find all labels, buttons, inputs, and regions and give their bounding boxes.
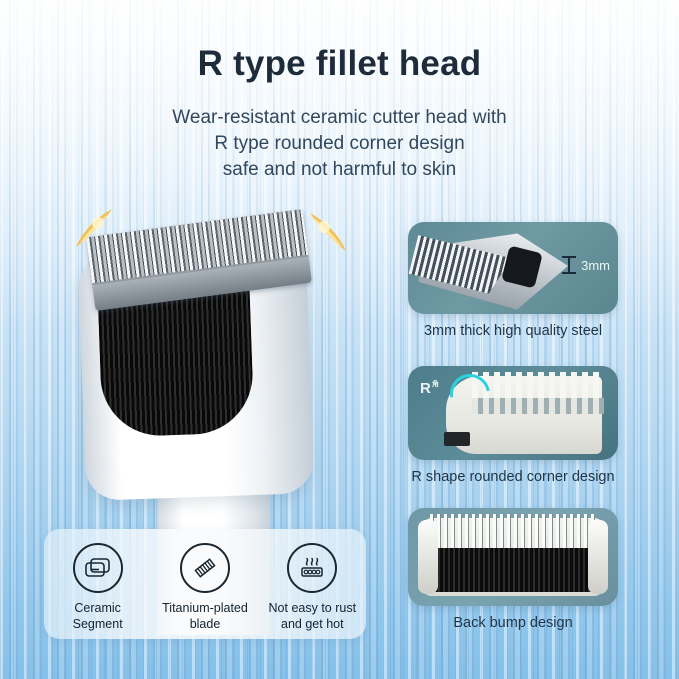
panel-caption: Back bump design bbox=[408, 615, 618, 631]
blade-closeup-photo: 3mm bbox=[408, 222, 618, 314]
badge-titanium-plated-blade: Titanium-plated blade bbox=[155, 543, 255, 632]
spark-icon bbox=[68, 203, 128, 255]
subtitle-block: Wear-resistant ceramic cutter head with … bbox=[0, 105, 679, 183]
blade-rail-right bbox=[588, 520, 608, 594]
subtitle-line-2: R type rounded corner design bbox=[0, 131, 679, 157]
badge-label: Titanium-plated blade bbox=[155, 600, 255, 632]
ceramic-layers-icon bbox=[73, 543, 123, 593]
comb-teeth-photo: R 角 bbox=[408, 366, 618, 460]
subtitle-line-1: Wear-resistant ceramic cutter head with bbox=[0, 105, 679, 131]
badge-label: Not easy to rust and get hot bbox=[262, 600, 362, 632]
spark-icon bbox=[294, 207, 354, 259]
badge-not-easy-to-rust: Not easy to rust and get hot bbox=[262, 543, 362, 632]
badge-label-line-2: and get hot bbox=[262, 616, 362, 632]
caliper-icon bbox=[562, 256, 576, 274]
blade-rail-left bbox=[418, 520, 438, 594]
feature-badges-card: Ceramic Segment Titanium-pl bbox=[44, 529, 366, 639]
blade-teeth bbox=[430, 514, 596, 552]
feature-panel-steel-thickness: 3mm 3mm thick high quality steel bbox=[408, 222, 618, 339]
blade-notch bbox=[444, 432, 470, 446]
panel-caption: 3mm thick high quality steel bbox=[408, 323, 618, 339]
badge-label: Ceramic Segment bbox=[48, 600, 148, 632]
badge-ceramic-segment: Ceramic Segment bbox=[48, 543, 148, 632]
blade-back-photo bbox=[408, 508, 618, 606]
r-marker-letter: R bbox=[420, 380, 431, 397]
blade-comb-icon bbox=[180, 543, 230, 593]
subtitle-line-3: safe and not harmful to skin bbox=[0, 157, 679, 183]
blade-black-section bbox=[430, 548, 596, 592]
product-feature-graphic: R type fillet head Wear-resistant cerami… bbox=[0, 0, 679, 679]
heat-grill-icon bbox=[287, 543, 337, 593]
feature-panel-r-shape: R 角 R shape rounded corner design bbox=[408, 366, 618, 485]
panel-caption: R shape rounded corner design bbox=[408, 469, 618, 485]
dimension-value: 3mm bbox=[581, 258, 610, 273]
badge-label-line-1: Titanium-plated bbox=[155, 600, 255, 616]
badge-label-line-1: Not easy to rust bbox=[262, 600, 362, 616]
dimension-annotation: 3mm bbox=[562, 256, 610, 274]
badge-label-line-2: Segment bbox=[48, 616, 148, 632]
page-title: R type fillet head bbox=[0, 44, 679, 84]
comb-teeth bbox=[472, 372, 604, 414]
badge-label-line-2: blade bbox=[155, 616, 255, 632]
r-marker-sub: 角 bbox=[432, 381, 439, 388]
feature-panel-back-bump: Back bump design bbox=[408, 508, 618, 631]
badge-label-line-1: Ceramic bbox=[48, 600, 148, 616]
r-marker: R 角 bbox=[420, 380, 439, 397]
